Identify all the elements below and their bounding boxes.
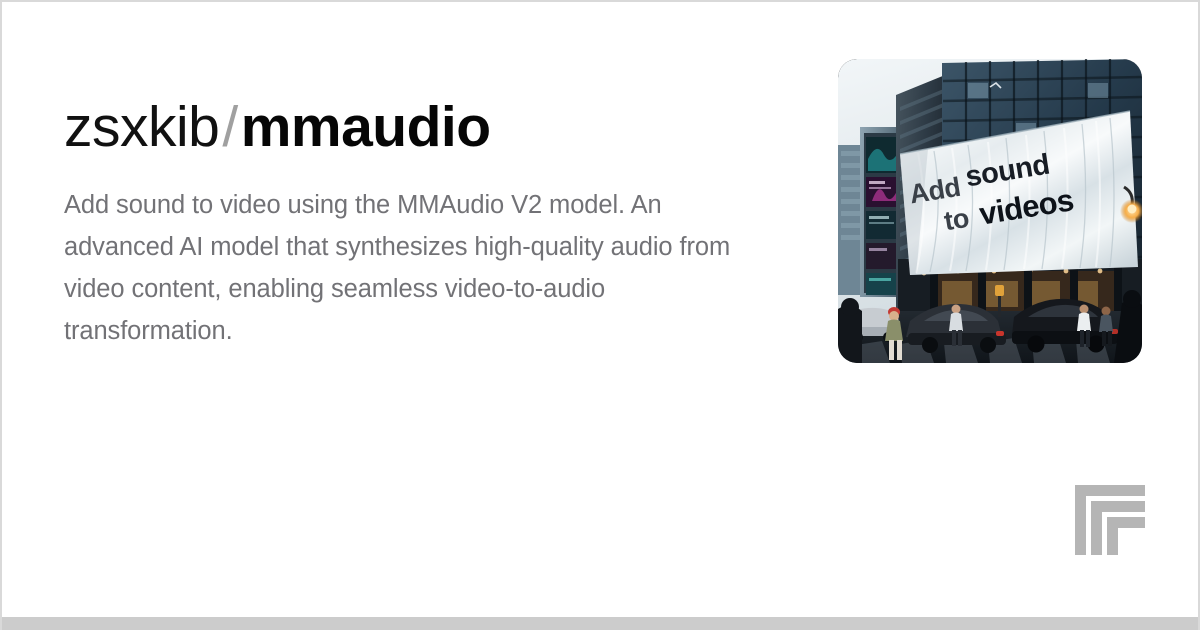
card-content: zsxkib/mmaudio Add sound to video using … (64, 98, 794, 352)
model-owner: zsxkib (64, 95, 219, 159)
page-title: zsxkib/mmaudio (64, 98, 794, 158)
og-card: zsxkib/mmaudio Add sound to video using … (0, 0, 1200, 630)
title-separator: / (219, 95, 240, 159)
model-description: Add sound to video using the MMAudio V2 … (64, 158, 776, 352)
model-thumbnail: Add sound to videos (838, 59, 1142, 363)
model-name: mmaudio (241, 95, 491, 159)
replicate-logo (1075, 485, 1145, 555)
thumbnail-illustration: Add sound to videos (838, 59, 1142, 363)
replicate-logo-bars (1075, 485, 1145, 555)
bottom-bar (2, 617, 1198, 630)
svg-text:to: to (942, 203, 971, 236)
